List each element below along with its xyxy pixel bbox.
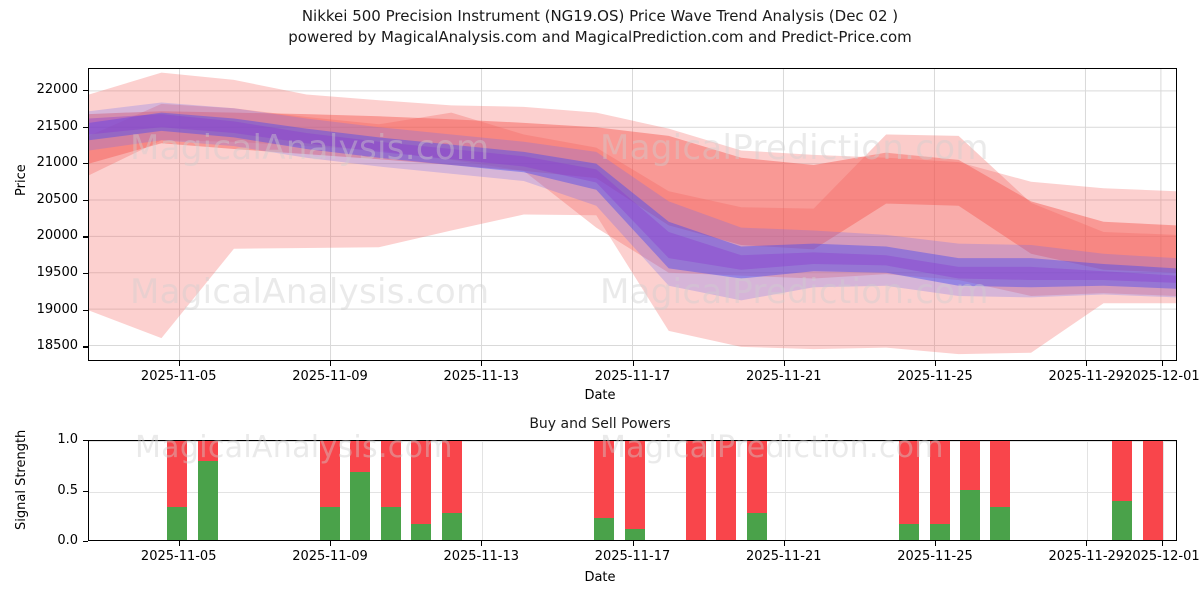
price-x-tick-mark: [481, 361, 482, 366]
signal-y-tick-mark: [83, 440, 88, 441]
buy-power-segment: [899, 524, 919, 540]
price-x-tick-mark: [330, 361, 331, 366]
signal-x-tick-mark: [633, 541, 634, 546]
signal-bar[interactable]: [594, 440, 614, 540]
buy-power-segment: [350, 472, 370, 540]
signal-bar[interactable]: [167, 440, 187, 540]
signal-bar[interactable]: [686, 440, 706, 540]
price-x-tick-mark: [1162, 361, 1163, 366]
sell-power-segment: [899, 440, 919, 524]
signal-x-tick-label: 2025-11-17: [595, 549, 671, 564]
signal-bar[interactable]: [990, 440, 1010, 540]
price-y-tick-label: 19000: [0, 302, 78, 317]
title-line-1: Nikkei 500 Precision Instrument (NG19.OS…: [0, 6, 1200, 27]
price-wave-plot-area: [88, 68, 1177, 361]
price-x-tick-label: 2025-11-21: [746, 369, 822, 384]
signal-x-axis-title: Date: [0, 570, 1200, 585]
signal-y-tick-label: 1.0: [0, 432, 78, 447]
price-x-axis-title: Date: [0, 388, 1200, 403]
signal-gridline-vertical: [785, 441, 786, 540]
buy-power-segment: [320, 507, 340, 540]
signal-x-tick-mark: [179, 541, 180, 546]
signal-bar[interactable]: [1112, 440, 1132, 540]
signal-bar[interactable]: [381, 440, 401, 540]
signal-x-tick-label: 2025-11-29: [1049, 549, 1125, 564]
sell-power-segment: [930, 440, 950, 524]
sell-power-segment: [411, 440, 431, 524]
sell-power-segment: [1112, 440, 1132, 501]
signal-gridline-vertical: [1087, 441, 1088, 540]
price-x-tick-label: 2025-11-05: [141, 369, 217, 384]
sell-power-segment: [686, 440, 706, 540]
signal-bar[interactable]: [625, 440, 645, 540]
buy-power-segment: [990, 507, 1010, 540]
price-x-tick-mark: [179, 361, 180, 366]
price-x-tick-label: 2025-11-25: [897, 369, 973, 384]
signal-y-tick-mark: [83, 491, 88, 492]
signal-bar[interactable]: [1143, 440, 1163, 540]
signal-bar[interactable]: [716, 440, 736, 540]
signal-x-tick-mark: [935, 541, 936, 546]
sell-power-segment: [747, 440, 767, 513]
buy-power-segment: [1112, 501, 1132, 540]
price-y-tick-label: 18500: [0, 338, 78, 353]
sell-power-segment: [594, 440, 614, 518]
price-y-tick-label: 19500: [0, 265, 78, 280]
buy-power-segment: [381, 507, 401, 540]
price-y-tick-mark: [83, 236, 88, 237]
price-x-tick-mark: [784, 361, 785, 366]
signal-bar[interactable]: [442, 440, 462, 540]
buy-power-segment: [198, 461, 218, 540]
sell-power-segment: [198, 440, 218, 461]
buy-power-segment: [625, 529, 645, 540]
price-wave-svg: [89, 69, 1176, 360]
price-x-tick-label: 2025-12-01: [1124, 369, 1200, 384]
price-y-tick-label: 20500: [0, 192, 78, 207]
price-y-tick-mark: [83, 127, 88, 128]
price-y-tick-label: 20000: [0, 228, 78, 243]
sell-power-segment: [320, 440, 340, 507]
signal-x-tick-label: 2025-11-13: [443, 549, 519, 564]
price-y-tick-mark: [83, 273, 88, 274]
signal-gridline-vertical: [482, 441, 483, 540]
signal-bar[interactable]: [899, 440, 919, 540]
signal-y-tick-label: 0.0: [0, 533, 78, 548]
signal-x-tick-mark: [1162, 541, 1163, 546]
signal-bar[interactable]: [930, 440, 950, 540]
buy-power-segment: [442, 513, 462, 540]
sell-power-segment: [990, 440, 1010, 507]
price-x-tick-label: 2025-11-09: [292, 369, 368, 384]
sell-power-segment: [1143, 440, 1163, 540]
sell-power-segment: [625, 440, 645, 529]
signal-x-tick-label: 2025-11-21: [746, 549, 822, 564]
signal-x-tick-label: 2025-11-25: [897, 549, 973, 564]
price-x-tick-mark: [935, 361, 936, 366]
signal-bar[interactable]: [747, 440, 767, 540]
price-y-tick-mark: [83, 163, 88, 164]
buy-power-segment: [960, 490, 980, 541]
signal-x-tick-label: 2025-12-01: [1124, 549, 1200, 564]
price-x-tick-label: 2025-11-17: [595, 369, 671, 384]
sell-power-segment: [167, 440, 187, 507]
signal-bar[interactable]: [411, 440, 431, 540]
sell-power-segment: [960, 440, 980, 490]
signal-x-tick-label: 2025-11-09: [292, 549, 368, 564]
signal-bar[interactable]: [320, 440, 340, 540]
signal-y-tick-mark: [83, 541, 88, 542]
signal-y-tick-label: 0.5: [0, 483, 78, 498]
signal-chart-title: Buy and Sell Powers: [0, 416, 1200, 432]
signal-x-tick-mark: [481, 541, 482, 546]
signal-x-tick-label: 2025-11-05: [141, 549, 217, 564]
price-y-tick-label: 21000: [0, 155, 78, 170]
signal-bar[interactable]: [350, 440, 370, 540]
buy-sell-powers-plot-area: [88, 440, 1177, 541]
signal-x-tick-mark: [330, 541, 331, 546]
price-y-tick-label: 21500: [0, 119, 78, 134]
buy-power-segment: [594, 518, 614, 540]
chart-page: Nikkei 500 Precision Instrument (NG19.OS…: [0, 0, 1200, 600]
signal-bar[interactable]: [198, 440, 218, 540]
buy-power-segment: [930, 524, 950, 540]
signal-x-tick-mark: [784, 541, 785, 546]
price-x-tick-label: 2025-11-13: [443, 369, 519, 384]
signal-x-tick-mark: [1086, 541, 1087, 546]
signal-bar[interactable]: [960, 440, 980, 540]
buy-power-segment: [167, 507, 187, 540]
title-line-2: powered by MagicalAnalysis.com and Magic…: [0, 27, 1200, 48]
sell-power-segment: [350, 440, 370, 472]
price-y-tick-mark: [83, 346, 88, 347]
signal-gridline-vertical: [1163, 441, 1164, 540]
price-y-tick-mark: [83, 310, 88, 311]
sell-power-segment: [381, 440, 401, 507]
buy-power-segment: [747, 513, 767, 540]
sell-power-segment: [716, 440, 736, 540]
price-x-tick-label: 2025-11-29: [1049, 369, 1125, 384]
price-y-tick-label: 22000: [0, 82, 78, 97]
buy-power-segment: [411, 524, 431, 540]
price-y-tick-mark: [83, 200, 88, 201]
page-title: Nikkei 500 Precision Instrument (NG19.OS…: [0, 6, 1200, 48]
price-x-tick-mark: [633, 361, 634, 366]
price-x-tick-mark: [1086, 361, 1087, 366]
price-y-tick-mark: [83, 90, 88, 91]
sell-power-segment: [442, 440, 462, 513]
